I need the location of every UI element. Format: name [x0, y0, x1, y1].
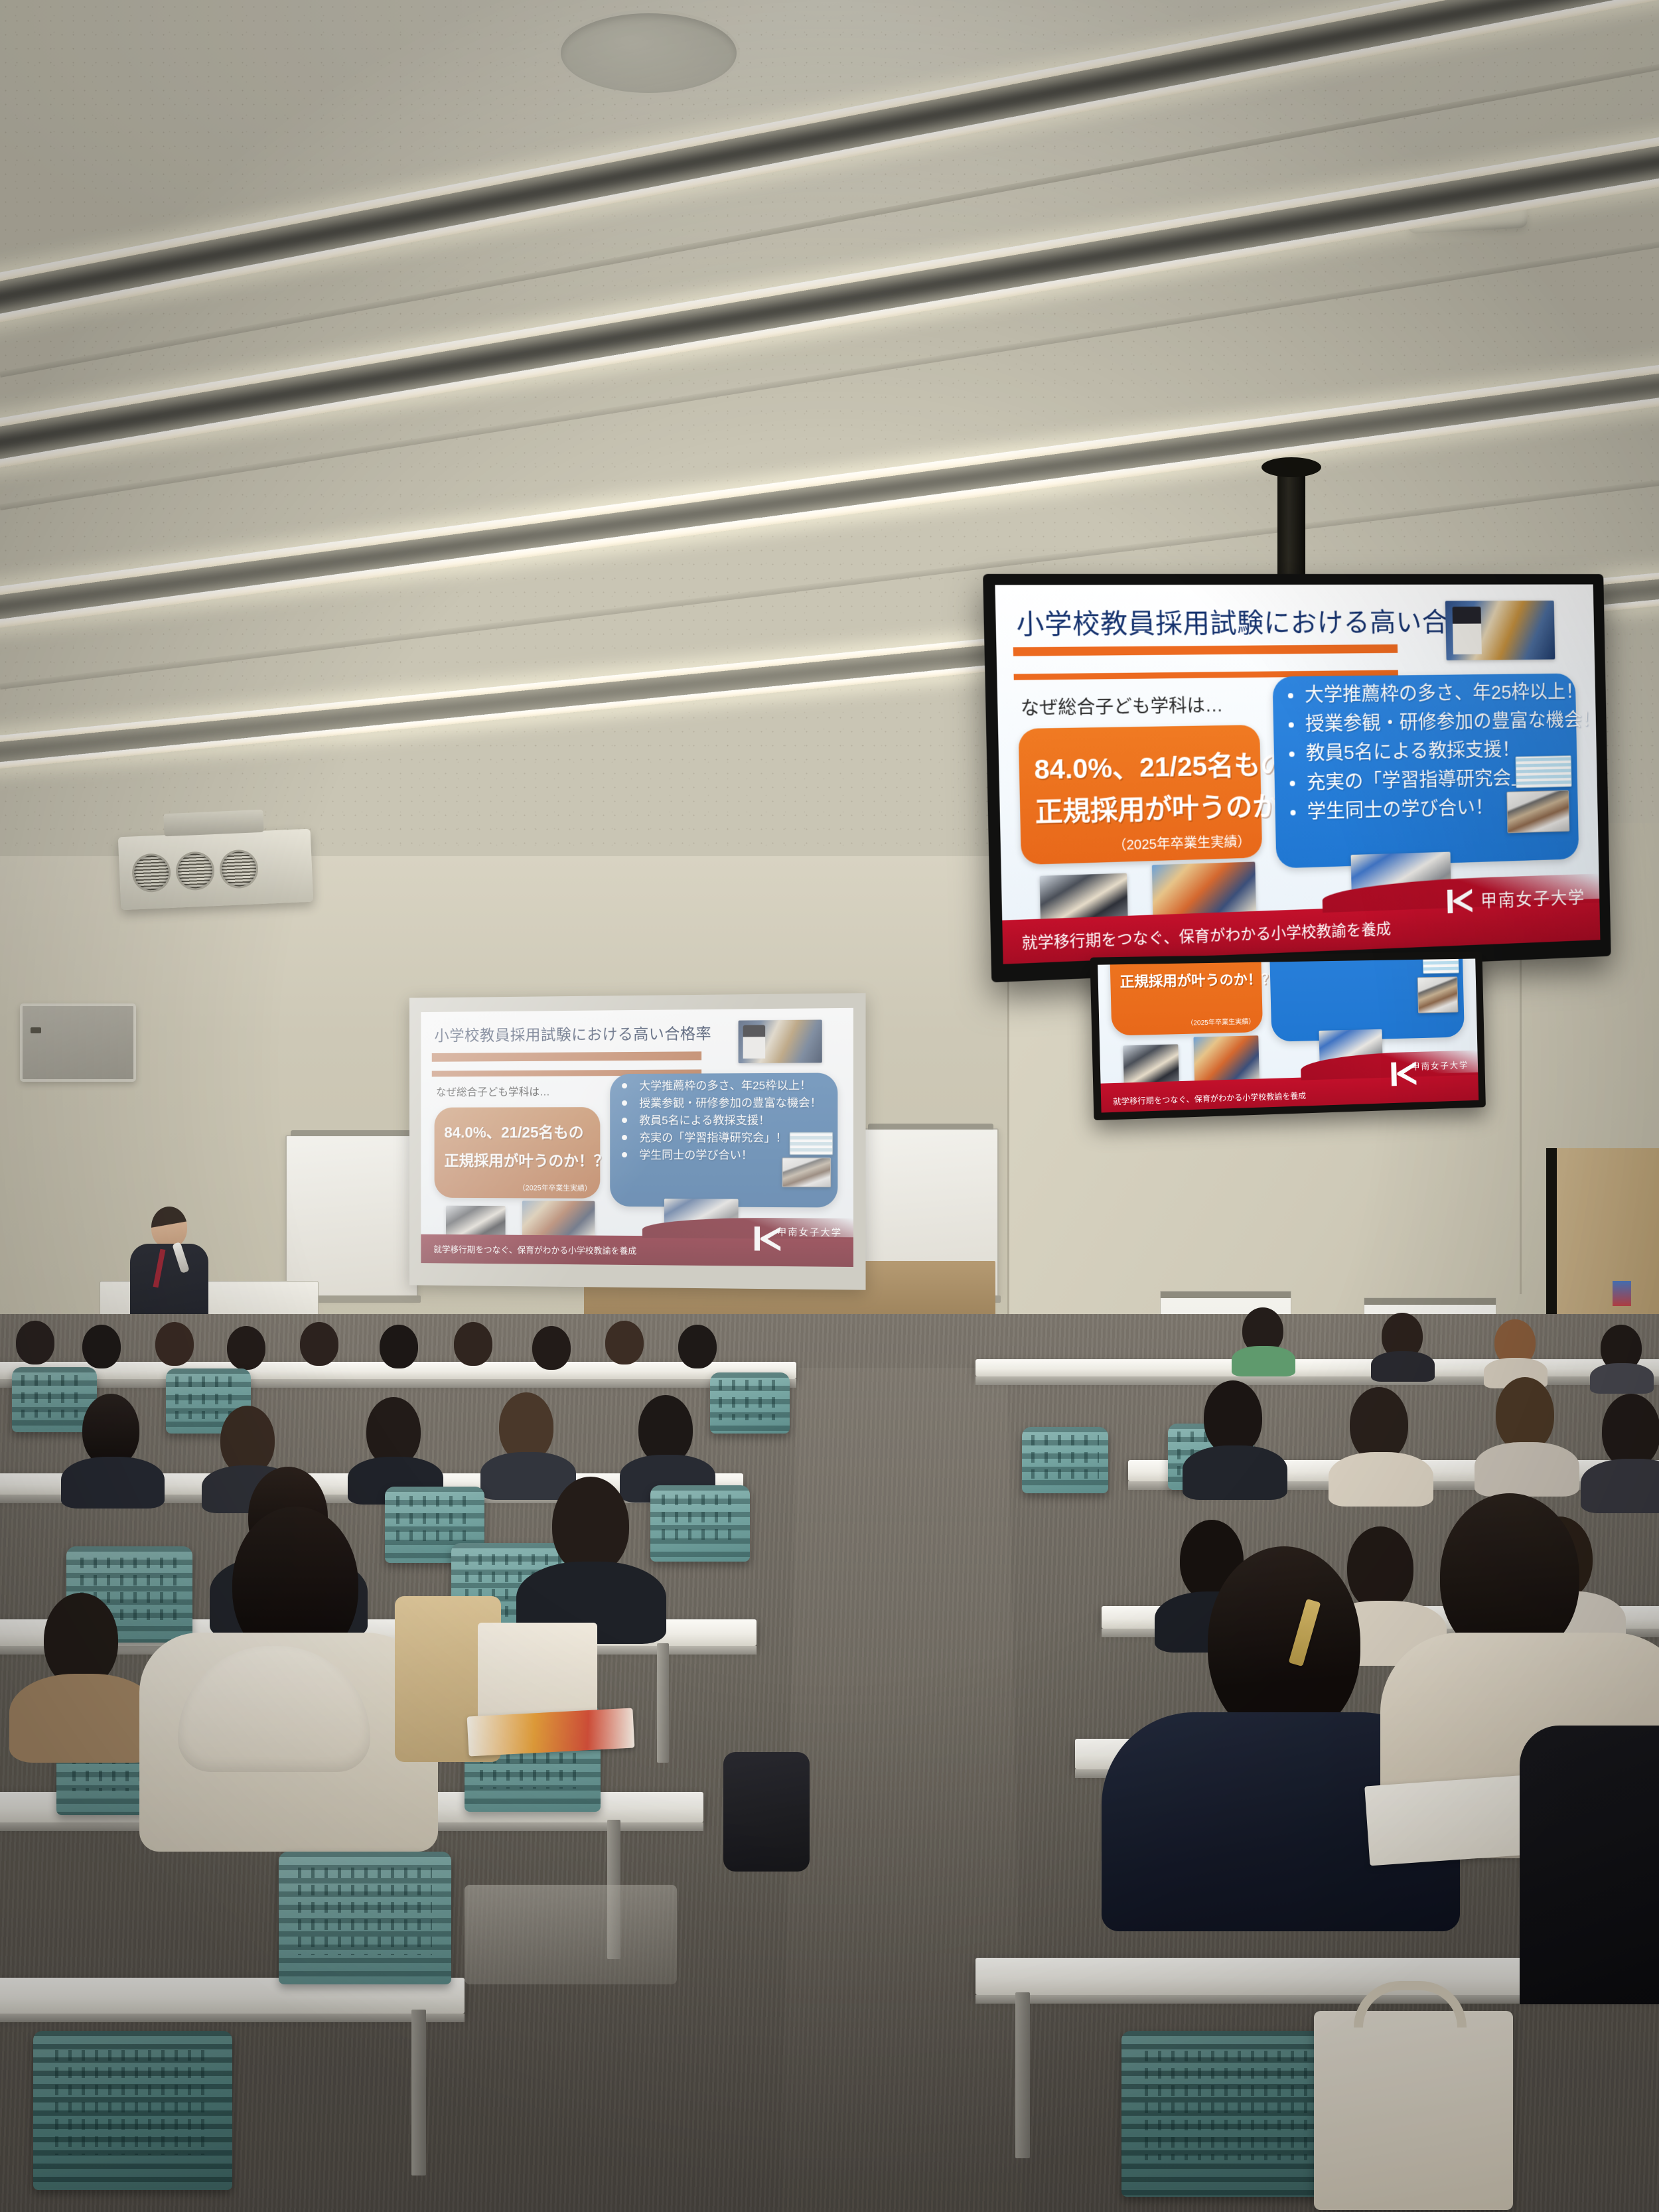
secondary-display-monitor: 小学校教員採用試験における高い合格率 なぜ総合子ども学科は… 84.0%、21/…	[1090, 952, 1486, 1121]
audience-member	[597, 1321, 653, 1374]
benefit-text: 授業参観・研修参加の豊富な機会！	[1305, 711, 1600, 735]
head	[82, 1394, 139, 1467]
benefit-text: 教員5名による教採支援！	[1306, 741, 1520, 764]
main-display-monitor: 小学校教員採用試験における高い合格率 なぜ総合子ども学科は… 84.0%、21/…	[983, 574, 1611, 983]
university-brand: 甲南女子大学	[755, 1224, 843, 1240]
head	[1350, 1387, 1408, 1461]
body	[1371, 1351, 1435, 1382]
bag	[723, 1752, 810, 1872]
bullet-dot-icon	[622, 1118, 627, 1123]
head	[155, 1322, 194, 1366]
highlight-line-2: 正規採用が叶うのか！？	[1119, 969, 1275, 992]
monitor-screen: 小学校教員採用試験における高い合格率 なぜ総合子ども学科は… 84.0%、21/…	[995, 585, 1600, 964]
slide-leadin: なぜ総合子ども学科は…	[1020, 690, 1223, 719]
chair	[650, 1485, 750, 1562]
slide-clipped-view: 小学校教員採用試験における高い合格率 なぜ総合子ども学科は… 84.0%、21/…	[1098, 958, 1479, 1112]
projected-slide: 小学校教員採用試験における高い合格率 なぜ総合子ども学科は… 84.0%、21/…	[421, 1008, 853, 1267]
bullet-dot-icon	[1288, 722, 1293, 727]
ceiling-vent-icon	[561, 13, 737, 93]
highlight-line-1: 84.0%、21/25名もの	[1034, 743, 1287, 788]
whiteboard-front-left	[285, 1135, 418, 1297]
highlight-note: （2025年卒業生実績）	[518, 1182, 592, 1193]
chair-perforations	[1031, 1435, 1098, 1479]
center-aisle	[780, 1368, 1025, 2212]
head	[16, 1321, 54, 1364]
chair	[33, 2031, 232, 2190]
audience-member	[670, 1325, 726, 1378]
bullet-dot-icon	[622, 1152, 627, 1157]
desk-basket	[465, 1885, 677, 1984]
timetable-photo	[789, 1132, 833, 1155]
benefit-text: 教員5名による教採支援！	[639, 1115, 770, 1126]
head	[1496, 1377, 1554, 1451]
head	[499, 1392, 553, 1461]
footer-text: 就学移行期をつなぐ、保育がわかる小学校教諭を養成	[1021, 917, 1391, 954]
audience-member	[1334, 1387, 1427, 1500]
audience-member	[1188, 1380, 1281, 1493]
bullet-dot-icon	[1290, 810, 1295, 816]
head	[1204, 1380, 1262, 1455]
head	[227, 1326, 265, 1370]
audience-member	[1234, 1307, 1294, 1368]
highlight-line-2: 正規採用が叶うのか！？	[444, 1148, 609, 1171]
body	[1581, 1459, 1659, 1513]
presenter-head	[151, 1207, 187, 1248]
timetable-photo	[1423, 958, 1459, 974]
audience-member	[1480, 1377, 1573, 1490]
monitor-screen: 小学校教員採用試験における高い合格率 なぜ総合子ども学科は… 84.0%、21/…	[1098, 958, 1479, 1112]
k-logo-icon	[1391, 1059, 1404, 1074]
classroom-photo	[1445, 601, 1555, 660]
chair-perforations	[55, 2050, 210, 2155]
ceiling-projector	[118, 829, 314, 911]
classroom-photo	[739, 1020, 822, 1063]
bullet-dot-icon	[622, 1084, 627, 1089]
chair-perforations	[719, 1380, 781, 1420]
slide-leadin: なぜ総合子ども学科は…	[436, 1083, 550, 1099]
brand-name: 甲南女子大学	[1411, 1059, 1469, 1072]
benefit-text: 充実の「学習指導研究会」！	[639, 1132, 787, 1143]
audience-member	[66, 1394, 159, 1500]
audience-member	[1593, 1325, 1652, 1386]
benefits-box: 大学推薦枠の多さ、年25枠以上！ 授業参観・研修参加の豊富な機会！ 教員5名によ…	[1273, 674, 1579, 868]
highlight-line-1: 84.0%、21/25名もの	[444, 1120, 583, 1142]
audience-member	[1486, 1319, 1546, 1380]
projector-lens-icon	[221, 851, 257, 887]
body	[1475, 1442, 1579, 1497]
body	[1183, 1445, 1287, 1500]
desk	[975, 1359, 1659, 1376]
children-photo-2	[1151, 861, 1257, 936]
list-item: 大学推薦枠の多さ、年25枠以上！	[616, 1080, 831, 1092]
projector-mount	[163, 810, 263, 837]
chair	[1022, 1427, 1108, 1493]
k-logo-icon	[755, 1224, 769, 1240]
audience-member	[292, 1322, 348, 1375]
bullet-dot-icon	[622, 1135, 627, 1140]
door-sign	[1613, 1281, 1631, 1306]
highlight-box: 84.0%、21/25名もの 正規採用が叶うのか！？ （2025年卒業生実績）	[1019, 725, 1263, 865]
audience-member	[446, 1322, 502, 1375]
projection-screen: 小学校教員採用試験における高い合格率 なぜ総合子ども学科は… 84.0%、21/…	[409, 993, 866, 1290]
head	[1208, 1546, 1360, 1739]
audience-member	[7, 1321, 64, 1374]
projector-lens-icon	[133, 855, 169, 891]
head	[605, 1321, 644, 1364]
highlight-line-2: 正規採用が叶うのか！？	[1035, 783, 1331, 830]
slide-title: 小学校教員採用試験における高い合格率	[435, 1021, 712, 1045]
slide-main: 小学校教員採用試験における高い合格率 なぜ総合子ども学科は… 84.0%、21/…	[995, 585, 1600, 964]
body	[1590, 1363, 1654, 1394]
head	[552, 1477, 629, 1574]
head	[638, 1395, 693, 1464]
body	[1232, 1346, 1295, 1376]
bullet-dot-icon	[622, 1100, 627, 1106]
head	[300, 1322, 338, 1366]
list-item: 教員5名による教採支援！	[616, 1114, 831, 1126]
chair-perforations	[298, 1868, 433, 1955]
wall-speaker-icon	[20, 1003, 136, 1082]
children-photo-1	[1039, 873, 1128, 940]
chair-perforations	[396, 1496, 474, 1546]
head	[532, 1326, 571, 1370]
chair-perforations	[662, 1495, 739, 1545]
head	[678, 1325, 717, 1368]
tote-bag	[1314, 2011, 1513, 2210]
lecture-hall-scene: 小学校教員採用試験における高い合格率 なぜ総合子ども学科は… 84.0%、21/…	[0, 0, 1659, 2212]
projector-lens-icon	[177, 853, 213, 889]
list-item: 大学推薦枠の多さ、年25枠以上！	[1282, 683, 1567, 705]
benefit-text: 授業参観・研修参加の豊富な機会！	[639, 1097, 822, 1109]
benefit-text: 学生同士の学び合い！	[639, 1149, 753, 1161]
benefit-text: 充実の「学習指導研究会」！	[1307, 769, 1548, 793]
body	[1520, 1726, 1659, 2004]
audience-member	[1520, 1726, 1659, 2004]
bullet-dot-icon	[1287, 693, 1293, 698]
audience-member	[1374, 1313, 1433, 1374]
slide-projected: 小学校教員採用試験における高い合格率 なぜ総合子ども学科は… 84.0%、21/…	[421, 1008, 853, 1267]
head	[454, 1322, 492, 1366]
chair	[279, 1852, 451, 1984]
benefit-text: 学生同士の学び合い！	[1307, 798, 1494, 822]
desk-leg	[1015, 1992, 1030, 2158]
timetable-photo	[1515, 755, 1571, 788]
library-photo	[1507, 790, 1570, 833]
monitor-bezel: 小学校教員採用試験における高い合格率 なぜ総合子ども学科は… 84.0%、21/…	[983, 574, 1611, 983]
chair-perforations	[1145, 2051, 1311, 2160]
university-brand: 甲南女子大学	[1447, 882, 1585, 915]
desk-leg	[657, 1643, 669, 1763]
head	[1602, 1394, 1659, 1468]
audience-member	[352, 1397, 438, 1497]
benefit-text: 大学推薦枠の多さ、年25枠以上！	[1305, 683, 1584, 705]
slide-footer-bar: 就学移行期をつなぐ、保育がわかる小学校教諭を養成 甲南女子大学	[421, 1234, 853, 1267]
title-underline	[1013, 644, 1397, 656]
footer-text: 就学移行期をつなぐ、保育がわかる小学校教諭を養成	[1113, 1090, 1306, 1107]
brand-name: 甲南女子大学	[1480, 885, 1586, 913]
monitor-bezel: 小学校教員採用試験における高い合格率 なぜ総合子ども学科は… 84.0%、21/…	[1090, 952, 1486, 1121]
library-photo	[782, 1157, 831, 1187]
slide-title: 小学校教員採用試験における高い合格率	[1016, 601, 1499, 642]
highlight-note: （2025年卒業生実績）	[1113, 831, 1251, 854]
benefits-box: 大学推薦枠の多さ、年25枠以上！ 授業参観・研修参加の豊富な機会！ 教員5名によ…	[610, 1072, 837, 1207]
chair	[710, 1372, 790, 1434]
head	[220, 1406, 275, 1475]
university-brand: 甲南女子大学	[1391, 1057, 1469, 1074]
k-logo-icon	[1447, 886, 1473, 916]
head	[44, 1593, 118, 1687]
highlight-note: （2025年卒業生実績）	[1187, 1015, 1256, 1027]
audience-member	[372, 1325, 427, 1378]
library-photo	[1417, 977, 1458, 1013]
audience-member	[524, 1477, 657, 1643]
title-underline	[432, 1052, 701, 1062]
highlight-box: 84.0%、21/25名もの 正規採用が叶うのか！？ （2025年卒業生実績）	[435, 1107, 601, 1199]
audience-member	[1586, 1394, 1659, 1507]
chair	[1121, 2031, 1334, 2197]
audience-member	[147, 1322, 203, 1375]
highlight-box: 84.0%、21/25名もの 正規採用が叶うのか！？ （2025年卒業生実績）	[1109, 958, 1263, 1035]
head	[82, 1325, 121, 1368]
slide-secondary: 小学校教員採用試験における高い合格率 なぜ総合子ども学科は… 84.0%、21/…	[1098, 958, 1479, 1112]
desk-leg	[411, 2010, 426, 2175]
brand-name: 甲南女子大学	[777, 1226, 842, 1240]
list-item: 授業参観・研修参加の豊富な機会！	[616, 1097, 831, 1109]
body	[61, 1457, 165, 1509]
bullet-dot-icon	[1289, 781, 1295, 786]
head	[380, 1325, 418, 1368]
body	[1329, 1452, 1433, 1507]
list-item: 授業参観・研修参加の豊富な機会！	[1283, 711, 1567, 735]
head	[366, 1397, 421, 1466]
audience-member	[524, 1326, 580, 1379]
benefit-text: 大学推薦枠の多さ、年25枠以上！	[639, 1080, 811, 1092]
bullet-dot-icon	[1289, 752, 1294, 757]
footer-text: 就学移行期をつなぐ、保育がわかる小学校教諭を養成	[433, 1242, 636, 1256]
